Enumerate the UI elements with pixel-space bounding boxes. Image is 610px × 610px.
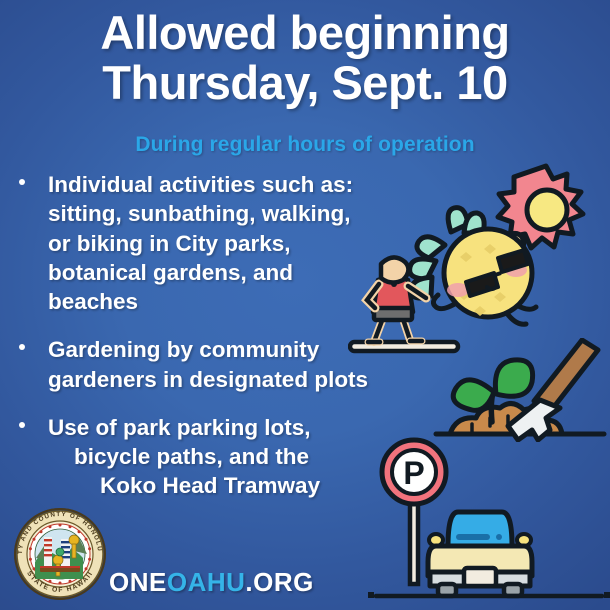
website-url[interactable]: ONEOAHU.ORG	[109, 567, 314, 598]
parking-sign-letter: P	[403, 455, 424, 491]
pineapple-sunbathing-illustration	[348, 160, 610, 358]
url-part-one: ONE	[109, 567, 167, 597]
bullet-dot-icon	[19, 179, 25, 185]
poster-canvas: Allowed beginning Thursday, Sept. 10 Dur…	[0, 0, 610, 610]
car-icon	[428, 512, 532, 596]
seedling-and-trowel-illustration	[432, 338, 610, 442]
headline-line-1: Allowed beginning	[100, 6, 509, 59]
page-title: Allowed beginning Thursday, Sept. 10	[0, 8, 610, 109]
ground-dot-right	[604, 592, 610, 598]
url-part-org: .ORG	[245, 567, 313, 597]
ground-dot-left	[368, 592, 374, 598]
subtitle: During regular hours of operation	[0, 133, 610, 157]
headline-line-2: Thursday, Sept. 10	[0, 58, 610, 108]
url-part-oahu: OAHU	[167, 567, 246, 597]
parking-sign-and-car-illustration: P	[368, 434, 610, 610]
city-county-honolulu-seal: CITY AND COUNTY OF HONOLULU STATE OF HAW…	[12, 506, 108, 602]
bullet-dot-icon	[19, 422, 25, 428]
bullet-dot-icon	[19, 344, 25, 350]
